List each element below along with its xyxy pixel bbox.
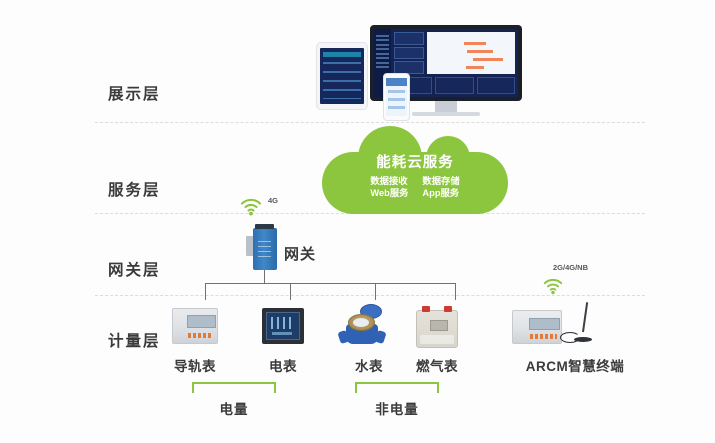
cloud-service-shape: 能耗云服务 数据接收 Web服务 数据存储 App服务 [322, 152, 508, 214]
water-meter-icon [340, 304, 384, 344]
gas-meter-icon [416, 310, 458, 348]
din-rail-meter-icon [172, 308, 218, 344]
tablet-icon [316, 42, 368, 110]
bracket-label-electricity: 电量 [202, 398, 266, 418]
wifi-icon [239, 196, 263, 216]
monitor-widget-row [394, 77, 515, 94]
layer-label-gateway: 网关层 [108, 258, 204, 280]
connector-to-water-meter [375, 283, 376, 300]
cloud-title: 能耗云服务 [322, 153, 508, 173]
cloud-item-app-service: App服务 [422, 187, 459, 199]
meter-label-gas: 燃气表 [405, 355, 469, 375]
cloud-item-data-storage: 数据存储 [422, 175, 459, 187]
panel-meter-icon [262, 308, 304, 344]
gateway-device-icon [253, 228, 277, 270]
smartphone-screen [386, 78, 407, 116]
wifi-icon [542, 276, 564, 295]
connector-to-panel-meter [290, 283, 291, 300]
monitor-stat-cards [394, 32, 424, 74]
cloud-column-left: 数据接收 Web服务 [370, 175, 408, 199]
cloud-item-web-service: Web服务 [370, 187, 408, 199]
connector-to-gas-meter [455, 283, 456, 300]
connector-to-din-meter [205, 283, 206, 300]
monitor-dashboard [391, 29, 518, 97]
layer-divider-1 [95, 122, 645, 123]
connector-bus [205, 283, 456, 284]
bracket-non-electricity [355, 382, 439, 393]
smartphone-icon [383, 73, 410, 121]
bracket-electricity [192, 382, 276, 393]
monitor-top-row [394, 32, 515, 74]
cloud-item-data-receive: 数据接收 [370, 175, 408, 187]
terminal-label: ARCM智慧终端 [520, 355, 630, 375]
antenna-icon [566, 302, 596, 346]
layer-label-display: 展示层 [108, 82, 204, 104]
arcm-terminal-icon [512, 310, 562, 344]
monitor-map-panel [427, 32, 515, 74]
connector-gateway-drop [264, 270, 265, 284]
architecture-diagram: 展示层 服务层 网关层 计量层 [0, 0, 715, 443]
cloud-column-right: 数据存储 App服务 [422, 175, 459, 199]
gateway-network-label: 4G [268, 196, 278, 205]
tablet-screen [320, 48, 364, 104]
monitor-stand-base [412, 112, 480, 116]
terminal-network-label: 2G/4G/NB [553, 263, 588, 272]
meter-label-water: 水表 [337, 355, 401, 375]
layer-label-service: 服务层 [108, 178, 204, 200]
bracket-label-non-electricity: 非电量 [358, 398, 436, 418]
gateway-label: 网关 [284, 243, 316, 264]
meter-label-electricity: 电表 [251, 355, 315, 375]
meter-label-din-rail: 导轨表 [163, 355, 227, 375]
layer-divider-3 [95, 295, 645, 296]
